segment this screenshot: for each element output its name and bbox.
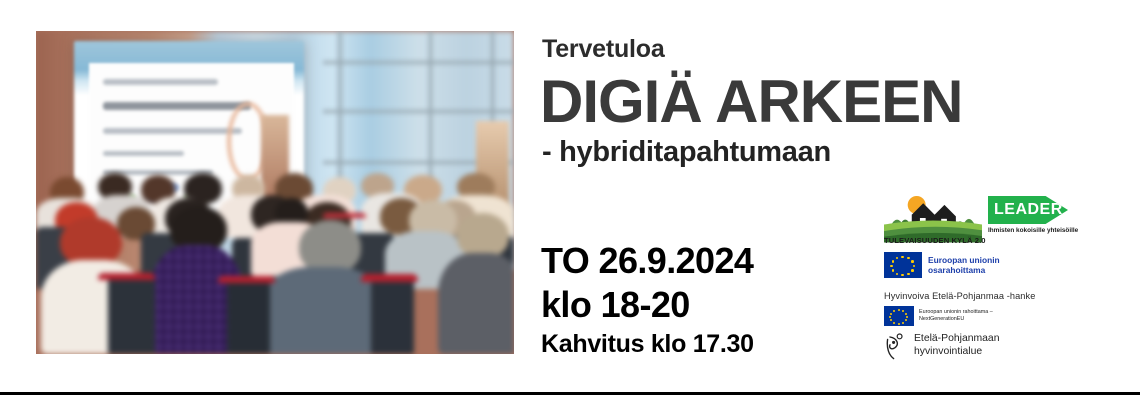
eu-nextgen-line1: Euroopan unionin rahoittama –: [919, 309, 993, 316]
eu-cofunded-text: Euroopan unionin osarahoittama: [928, 255, 1000, 275]
leader-logo: LEADER Ihmisten kokoisille yhteisöille: [988, 196, 1078, 250]
leader-arrow-shape: LEADER: [988, 196, 1068, 224]
page-title: DIGIÄ ARKEEN: [540, 67, 962, 136]
eu-cofunded-badge: Euroopan unionin osarahoittama: [884, 252, 1000, 278]
tulevaisuuden-kyla-logo: TULEVAISUUDEN KYLÄ 2.0: [884, 192, 982, 250]
welcome-label: Tervetuloa: [542, 35, 665, 64]
slide-text-line: [103, 128, 242, 134]
window-mullion: [323, 109, 514, 114]
bottom-divider: [0, 392, 1140, 395]
eu-cofunded-line2: osarahoittama: [928, 265, 1000, 275]
event-date: TO 26.9.2024: [541, 240, 753, 282]
event-photo: [36, 31, 514, 354]
wellbeing-region-name: Etelä-Pohjanmaan hyvinvointialue: [914, 333, 1000, 358]
logo-row-top: TULEVAISUUDEN KYLÄ 2.0 LEADER Ihmisten k…: [880, 192, 1080, 250]
audience-crowd: [36, 173, 514, 354]
eu-nextgen-text: Euroopan unionin rahoittama – NextGenera…: [919, 309, 993, 323]
slide-text-line: [103, 151, 184, 156]
eu-nextgen-line2: NextGenerationEU: [919, 316, 993, 323]
slide-text-line: [103, 79, 218, 84]
coffee-service-note: Kahvitus klo 17.30: [541, 330, 754, 359]
window-mullion: [323, 60, 514, 65]
logo-group: TULEVAISUUDEN KYLÄ 2.0 LEADER Ihmisten k…: [880, 192, 1080, 250]
event-time: klo 18-20: [541, 284, 690, 326]
wellbeing-swirl-icon: [884, 332, 908, 360]
leader-wordmark: LEADER: [988, 201, 1063, 219]
page-subtitle: - hybriditapahtumaan: [542, 136, 831, 169]
eu-cofunded-line1: Euroopan unionin: [928, 255, 1000, 265]
eu-flag-icon: [884, 306, 914, 326]
eu-flag-icon: [884, 252, 922, 278]
photo-scene: [36, 31, 514, 354]
leader-tagline: Ihmisten kokoisille yhteisöille: [988, 227, 1078, 234]
wellbeing-region-logo: Etelä-Pohjanmaan hyvinvointialue: [884, 332, 1000, 360]
village-logo-caption: TULEVAISUUDEN KYLÄ 2.0: [884, 236, 988, 245]
slide-text-line: [103, 102, 251, 110]
eu-nextgen-badge: Euroopan unionin rahoittama – NextGenera…: [884, 306, 1080, 326]
hyvinvoiva-project-title: Hyvinvoiva Etelä-Pohjanmaa -hanke: [884, 291, 1080, 301]
hyvinvoiva-block: Hyvinvoiva Etelä-Pohjanmaa -hanke Euroop…: [884, 291, 1080, 326]
